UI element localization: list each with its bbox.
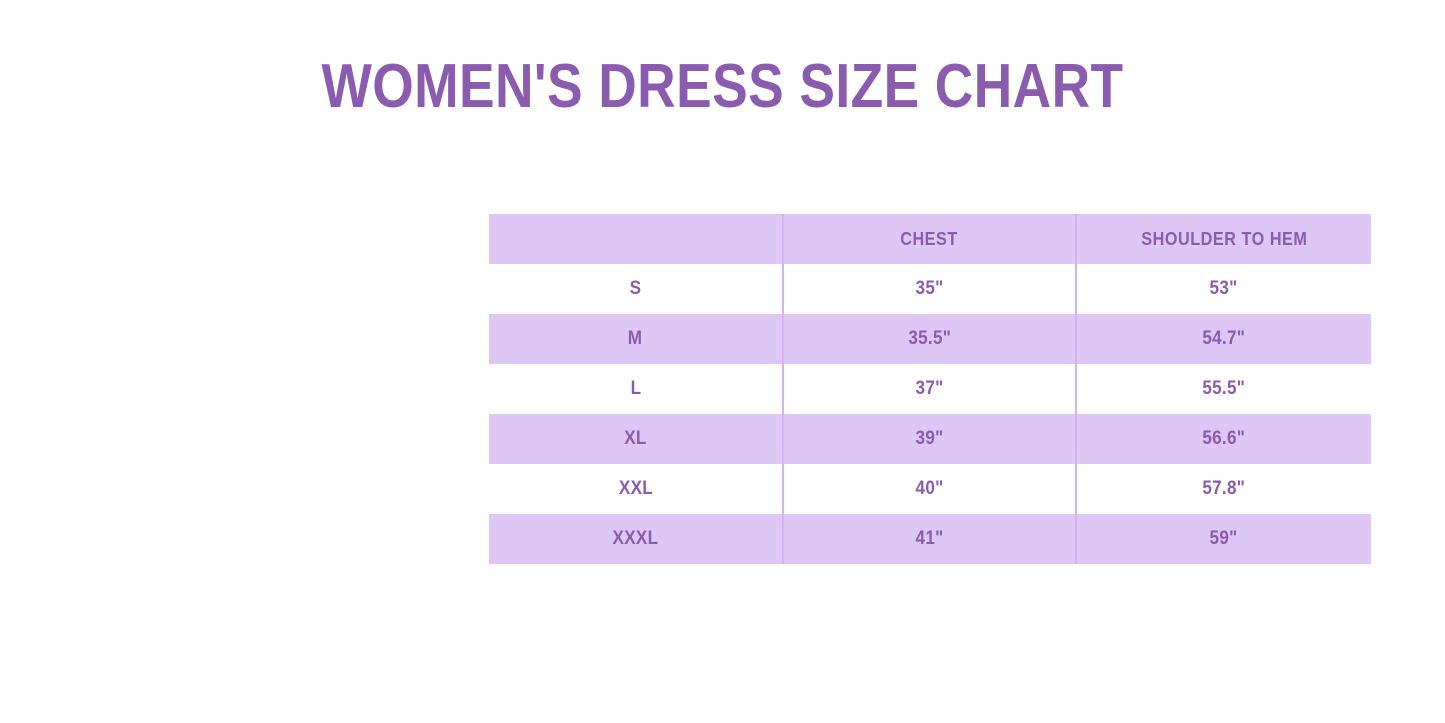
table-header-row: CHEST SHOULDER TO HEM xyxy=(489,214,1371,264)
column-header-chest: CHEST xyxy=(783,214,1076,264)
size-chart-table: CHEST SHOULDER TO HEM S 35" 53" xyxy=(489,214,1371,564)
table-row: S 35" 53" xyxy=(489,264,1371,314)
cell-chest: 35" xyxy=(783,264,1076,314)
size-chart-table-container: CHEST SHOULDER TO HEM S 35" 53" xyxy=(489,214,1371,564)
cell-size: M xyxy=(489,314,783,364)
cell-size: S xyxy=(489,264,783,314)
cell-shoulder-to-hem: 54.7" xyxy=(1076,314,1371,364)
column-header-size xyxy=(489,214,783,264)
table-row: L 37" 55.5" xyxy=(489,364,1371,414)
cell-size: XXL xyxy=(489,464,783,514)
table-row: M 35.5" 54.7" xyxy=(489,314,1371,364)
cell-shoulder-to-hem: 53" xyxy=(1076,264,1371,314)
cell-size: XXXL xyxy=(489,514,783,564)
column-header-shoulder-to-hem: SHOULDER TO HEM xyxy=(1076,214,1371,264)
cell-chest: 40" xyxy=(783,464,1076,514)
cell-size: L xyxy=(489,364,783,414)
page-title: WOMEN'S DRESS SIZE CHART xyxy=(101,56,1344,118)
table-row: XL 39" 56.6" xyxy=(489,414,1371,464)
table-row: XXL 40" 57.8" xyxy=(489,464,1371,514)
cell-shoulder-to-hem: 59" xyxy=(1076,514,1371,564)
cell-chest: 37" xyxy=(783,364,1076,414)
cell-chest: 41" xyxy=(783,514,1076,564)
column-header-shoulder-to-hem-label: SHOULDER TO HEM xyxy=(1141,229,1307,250)
cell-shoulder-to-hem: 57.8" xyxy=(1076,464,1371,514)
cell-chest: 35.5" xyxy=(783,314,1076,364)
cell-shoulder-to-hem: 56.6" xyxy=(1076,414,1371,464)
cell-shoulder-to-hem: 55.5" xyxy=(1076,364,1371,414)
cell-size: XL xyxy=(489,414,783,464)
column-header-chest-label: CHEST xyxy=(901,229,959,250)
table-row: XXXL 41" 59" xyxy=(489,514,1371,564)
cell-chest: 39" xyxy=(783,414,1076,464)
